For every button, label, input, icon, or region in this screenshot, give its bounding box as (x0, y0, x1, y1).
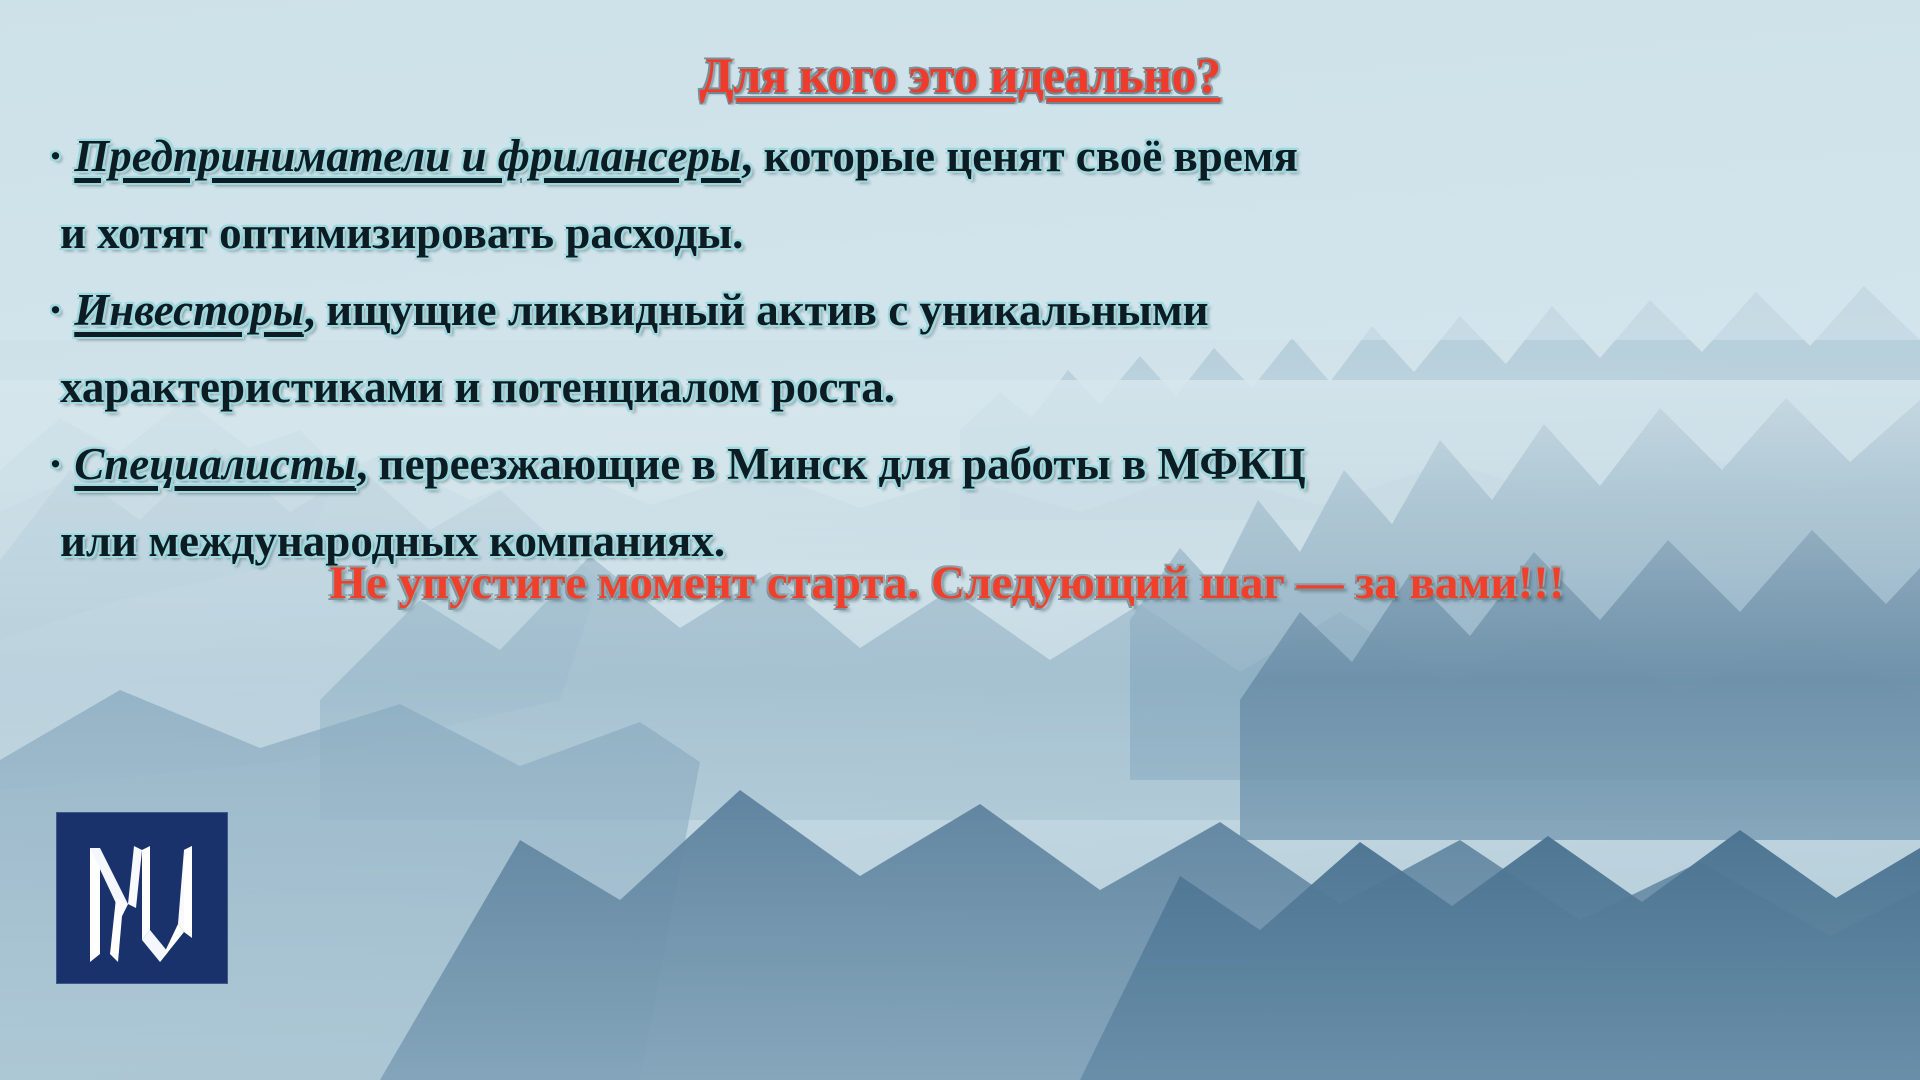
list-item-lead: Специалисты (74, 439, 356, 489)
bullet-list: · Предприниматели и фрилансеры, которые … (48, 118, 1908, 580)
bullet-marker: · (48, 439, 63, 489)
bullet-marker: · (48, 131, 63, 181)
closing-call-to-action: Не упустите момент старта. Следующий шаг… (0, 556, 1920, 610)
list-item-lead: Инвесторы (74, 285, 304, 335)
list-item-rest: , переезжающие в Минск для работы в МФКЦ (356, 439, 1305, 489)
slide-content: Для кого это идеально? · Предприниматели… (0, 0, 1920, 1080)
mw-monogram-icon (56, 812, 228, 984)
list-item: · Инвесторы, ищущие ликвидный актив с ун… (48, 272, 1908, 349)
list-item-continuation: и хотят оптимизировать расходы. (48, 195, 1908, 272)
bullet-marker: · (48, 285, 63, 335)
mw-monogram-logo (56, 812, 228, 984)
list-item-rest: , ищущие ликвидный актив с уникальными (304, 285, 1209, 335)
slide-canvas: Для кого это идеально? · Предприниматели… (0, 0, 1920, 1080)
list-item-continuation: характеристиками и потенциалом роста. (48, 349, 1908, 426)
list-item: · Специалисты, переезжающие в Минск для … (48, 426, 1908, 503)
page-title: Для кого это идеально? (0, 46, 1920, 104)
list-item-lead: Предприниматели и фрилансеры (74, 131, 741, 181)
list-item: · Предприниматели и фрилансеры, которые … (48, 118, 1908, 195)
list-item-rest: , которые ценят своё время (741, 131, 1298, 181)
